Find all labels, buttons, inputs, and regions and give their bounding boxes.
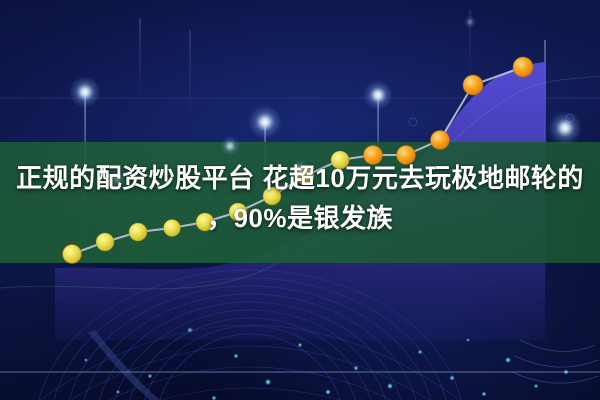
headline-line-1: 正规的配资炒股平台 花超10万元去玩极地邮轮的 [8, 158, 592, 198]
banner-image: 正规的配资炒股平台 花超10万元去玩极地邮轮的 ，90%是银发族 [0, 0, 600, 400]
headline-line-2: ，90%是银发族 [8, 198, 592, 238]
page-title: 正规的配资炒股平台 花超10万元去玩极地邮轮的 ，90%是银发族 [0, 158, 600, 238]
